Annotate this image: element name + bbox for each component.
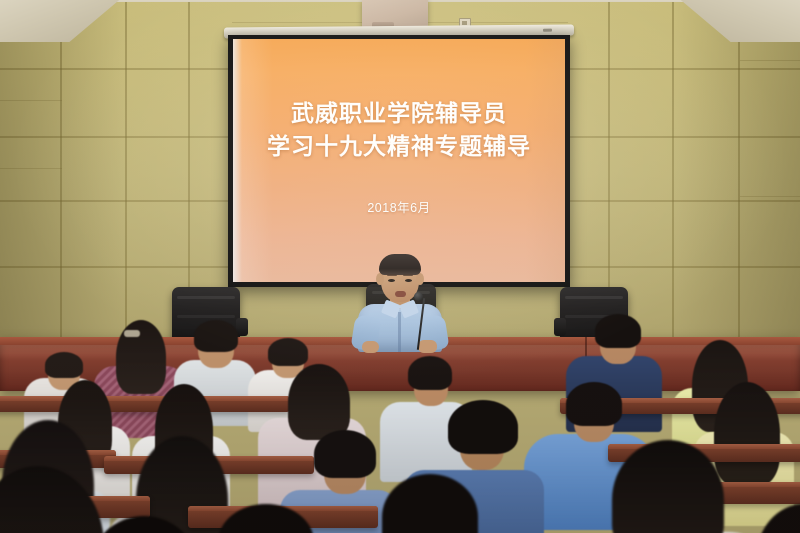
speaker-eyebrow-right [403,274,413,276]
speaker-ear-right [416,273,424,285]
lecture-hall-photo: 武威职业学院辅导员 学习十九大精神专题辅导 2018年6月 [0,0,800,533]
screen-frame: 武威职业学院辅导员 学习十九大精神专题辅导 2018年6月 [228,35,570,287]
speaker-hand-right [418,340,437,353]
speaker-hand-left [362,341,379,353]
speaker-mouth [395,291,406,297]
slide-date: 2018年6月 [367,197,430,216]
slide-title-line-2: 学习十九大精神专题辅导 [267,130,531,163]
screen-surface: 武威职业学院辅导员 学习十九大精神专题辅导 2018年6月 [233,39,565,282]
gooseneck-microphone-head [414,292,423,301]
slide-title-line-1: 武威职业学院辅导员 [291,97,507,130]
bench-row-far [0,396,290,412]
hair-clip [124,330,140,337]
projection-screen: 武威职业学院辅导员 学习十九大精神专题辅导 2018年6月 [228,26,570,288]
speaker-eyebrow-left [387,274,397,276]
speaker-eye-left [388,279,395,282]
speaker-eye-right [405,279,412,282]
speaker-presenter [352,256,448,348]
speaker-shirt-placket [398,312,401,352]
speaker-hair [379,254,421,275]
presentation-slide: 武威职业学院辅导员 学习十九大精神专题辅导 2018年6月 [233,39,565,282]
